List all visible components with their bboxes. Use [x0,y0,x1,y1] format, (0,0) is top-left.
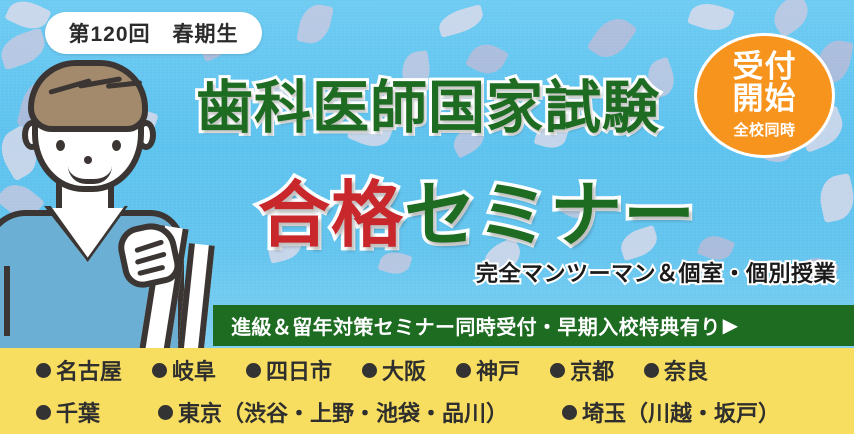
location-label: 岐阜 [172,354,216,386]
promo-banner: 第120回 春期生 受付 開始 全校同時 歯科医師国家試験 合格セミナー 完全マ… [0,0,854,434]
bullet-dot-icon [550,363,565,378]
eye-right [112,140,121,151]
bullet-dot-icon [158,405,173,420]
subhead-red-part: 合格 [258,176,404,256]
bullet-dot-icon [152,363,167,378]
location-label: 神戸 [476,354,520,386]
location-label: 東京（渋谷・上野・池袋・品川） [178,396,508,428]
location-item[interactable]: 大阪 [362,354,426,386]
location-item[interactable]: 京都 [550,354,614,386]
location-item[interactable]: 神戸 [456,354,520,386]
location-label: 千葉 [56,396,100,428]
nose [84,156,92,164]
location-label: 大阪 [382,354,426,386]
location-label: 四日市 [266,354,332,386]
student-illustration [0,58,226,350]
locations-row-1: 名古屋 岐阜 四日市 大阪 神戸 京都 奈良 [0,349,854,391]
bullet-dot-icon [456,363,471,378]
secondary-offer-bar[interactable]: 進級＆留年対策セミナー同時受付・早期入校特典有り ▶ [213,305,854,346]
bullet-dot-icon [644,363,659,378]
arrow-right-icon: ▶ [723,313,738,338]
registration-open-line1: 受付 [733,51,797,83]
sleeve [0,266,10,336]
tagline-text: 完全マンツーマン＆個室・個別授業 [476,256,836,288]
bullet-dot-icon [362,363,377,378]
locations-row-2: 千葉 東京（渋谷・上野・池袋・品川） 埼玉（川越・坂戸） [0,391,854,433]
location-item[interactable]: 奈良 [644,354,708,386]
registration-open-line2: 開始 [733,83,797,115]
hair [28,60,148,132]
session-badge: 第120回 春期生 [45,12,262,54]
subhead-title: 合格セミナー [258,156,696,261]
bullet-dot-icon [246,363,261,378]
location-item[interactable]: 四日市 [246,354,332,386]
location-item[interactable]: 千葉 [36,396,100,428]
subhead-green-part: セミナー [404,176,696,256]
location-item[interactable]: 東京（渋谷・上野・池袋・品川） [158,396,508,428]
secondary-offer-label: 進級＆留年対策セミナー同時受付・早期入校特典有り [213,311,721,340]
registration-open-badge: 受付 開始 全校同時 [694,33,835,158]
session-badge-label: 第120回 春期生 [68,18,238,48]
eye-left [56,140,65,151]
bullet-dot-icon [562,405,577,420]
registration-open-subtext: 全校同時 [733,119,795,140]
headline-title: 歯科医師国家試験 [196,62,660,144]
bullet-dot-icon [36,363,51,378]
location-item[interactable]: 岐阜 [152,354,216,386]
location-label: 奈良 [664,354,708,386]
location-item[interactable]: 埼玉（川越・坂戸） [562,396,780,428]
bullet-dot-icon [36,405,51,420]
location-label: 名古屋 [56,354,122,386]
location-item[interactable]: 名古屋 [36,354,122,386]
location-label: 埼玉（川越・坂戸） [582,396,780,428]
location-label: 京都 [570,354,614,386]
locations-footer: 名古屋 岐阜 四日市 大阪 神戸 京都 奈良 千葉 東京（渋谷・上野・池袋・品川… [0,348,854,434]
